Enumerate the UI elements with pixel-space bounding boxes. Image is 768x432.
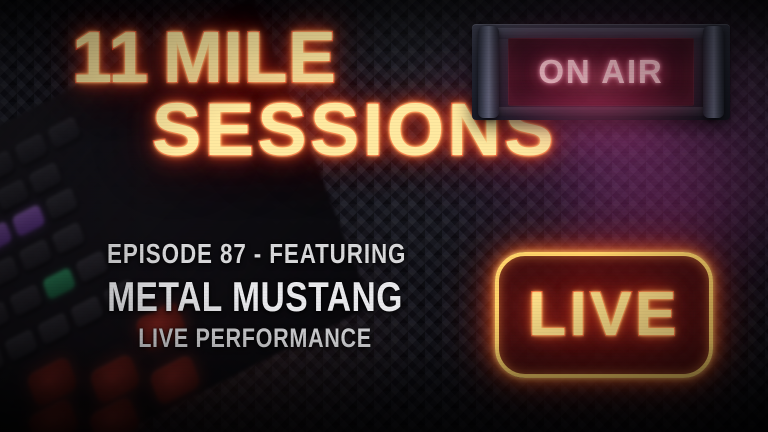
title-number: 11 [72, 18, 149, 98]
artist-name: METAL MUSTANG [107, 273, 403, 321]
on-air-label: ON AIR [538, 53, 663, 91]
thumbnail-canvas: 11MILE SESSIONS ON AIR EPISODE 87 - FEAT… [0, 0, 768, 432]
title-word-mile: MILE [163, 18, 336, 98]
on-air-left-pillar [478, 26, 499, 118]
live-badge: LIVE [495, 252, 713, 378]
on-air-bottom-rail [478, 107, 724, 116]
episode-number-label: EPISODE 87 - FEATURING [107, 238, 403, 270]
episode-info: EPISODE 87 - FEATURING METAL MUSTANG LIV… [70, 238, 440, 354]
live-label: LIVE [528, 284, 679, 346]
on-air-sign: ON AIR [472, 24, 730, 120]
on-air-lit-panel: ON AIR [508, 38, 694, 106]
on-air-right-pillar [703, 26, 724, 118]
performance-type-label: LIVE PERFORMANCE [107, 323, 403, 354]
